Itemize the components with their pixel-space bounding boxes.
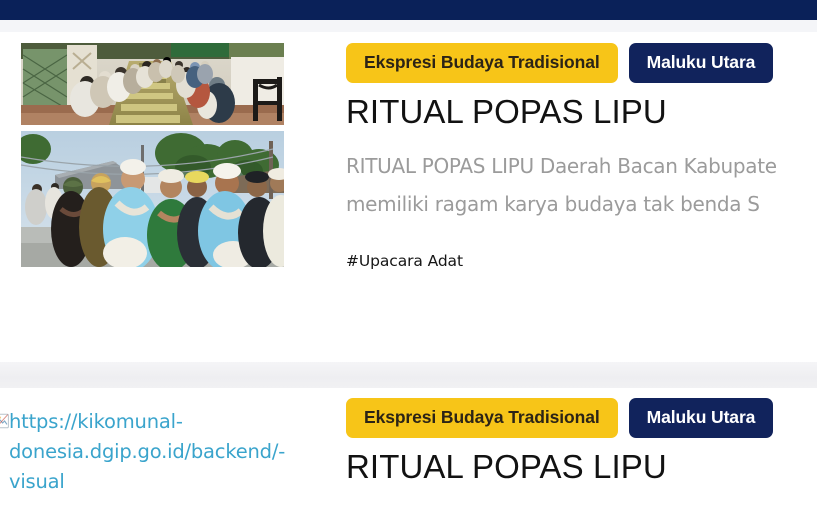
card-title[interactable]: RITUAL POPAS LIPU (346, 91, 817, 133)
listing-card[interactable]: Ekspresi Budaya Tradisional Maluku Utara… (0, 32, 817, 362)
card-description: RITUAL POPAS LIPU Daerah Bacan Kabupate … (346, 147, 817, 223)
card-tags[interactable]: #Upacara Adat (346, 251, 817, 271)
broken-image-alt-text: https://kikomunal- donesia.dgip.go.id/ba… (9, 407, 330, 497)
category-badge[interactable]: Ekspresi Budaya Tradisional (346, 43, 618, 83)
category-badge[interactable]: Ekspresi Budaya Tradisional (346, 398, 618, 438)
card-content-column: Ekspresi Budaya Tradisional Maluku Utara… (284, 388, 817, 488)
card-content-column: Ekspresi Budaya Tradisional Maluku Utara… (284, 32, 817, 271)
badge-row: Ekspresi Budaya Tradisional Maluku Utara (346, 398, 817, 438)
card-description-line-2: memiliki ragam karya budaya tak benda S (346, 185, 817, 223)
listing-card[interactable]: https://kikomunal- donesia.dgip.go.id/ba… (0, 388, 817, 508)
card-media-column: https://kikomunal- donesia.dgip.go.id/ba… (0, 388, 284, 497)
page-root: Ekspresi Budaya Tradisional Maluku Utara… (0, 0, 817, 508)
region-badge[interactable]: Maluku Utara (629, 398, 774, 438)
badge-row: Ekspresi Budaya Tradisional Maluku Utara (346, 43, 817, 83)
page-gutter (0, 20, 817, 32)
card-title[interactable]: RITUAL POPAS LIPU (346, 446, 817, 488)
broken-image-placeholder[interactable]: https://kikomunal- donesia.dgip.go.id/ba… (0, 399, 330, 497)
ritual-traditional-prayer-image[interactable] (21, 131, 284, 267)
region-badge[interactable]: Maluku Utara (629, 43, 774, 83)
card-description-line-1: RITUAL POPAS LIPU Daerah Bacan Kabupate (346, 147, 817, 185)
top-navigation-bar[interactable] (0, 0, 817, 20)
ritual-indoor-ceremony-image[interactable] (21, 43, 284, 125)
card-divider-gap (0, 362, 817, 388)
card-media-column (0, 32, 284, 267)
broken-image-icon (0, 413, 9, 429)
